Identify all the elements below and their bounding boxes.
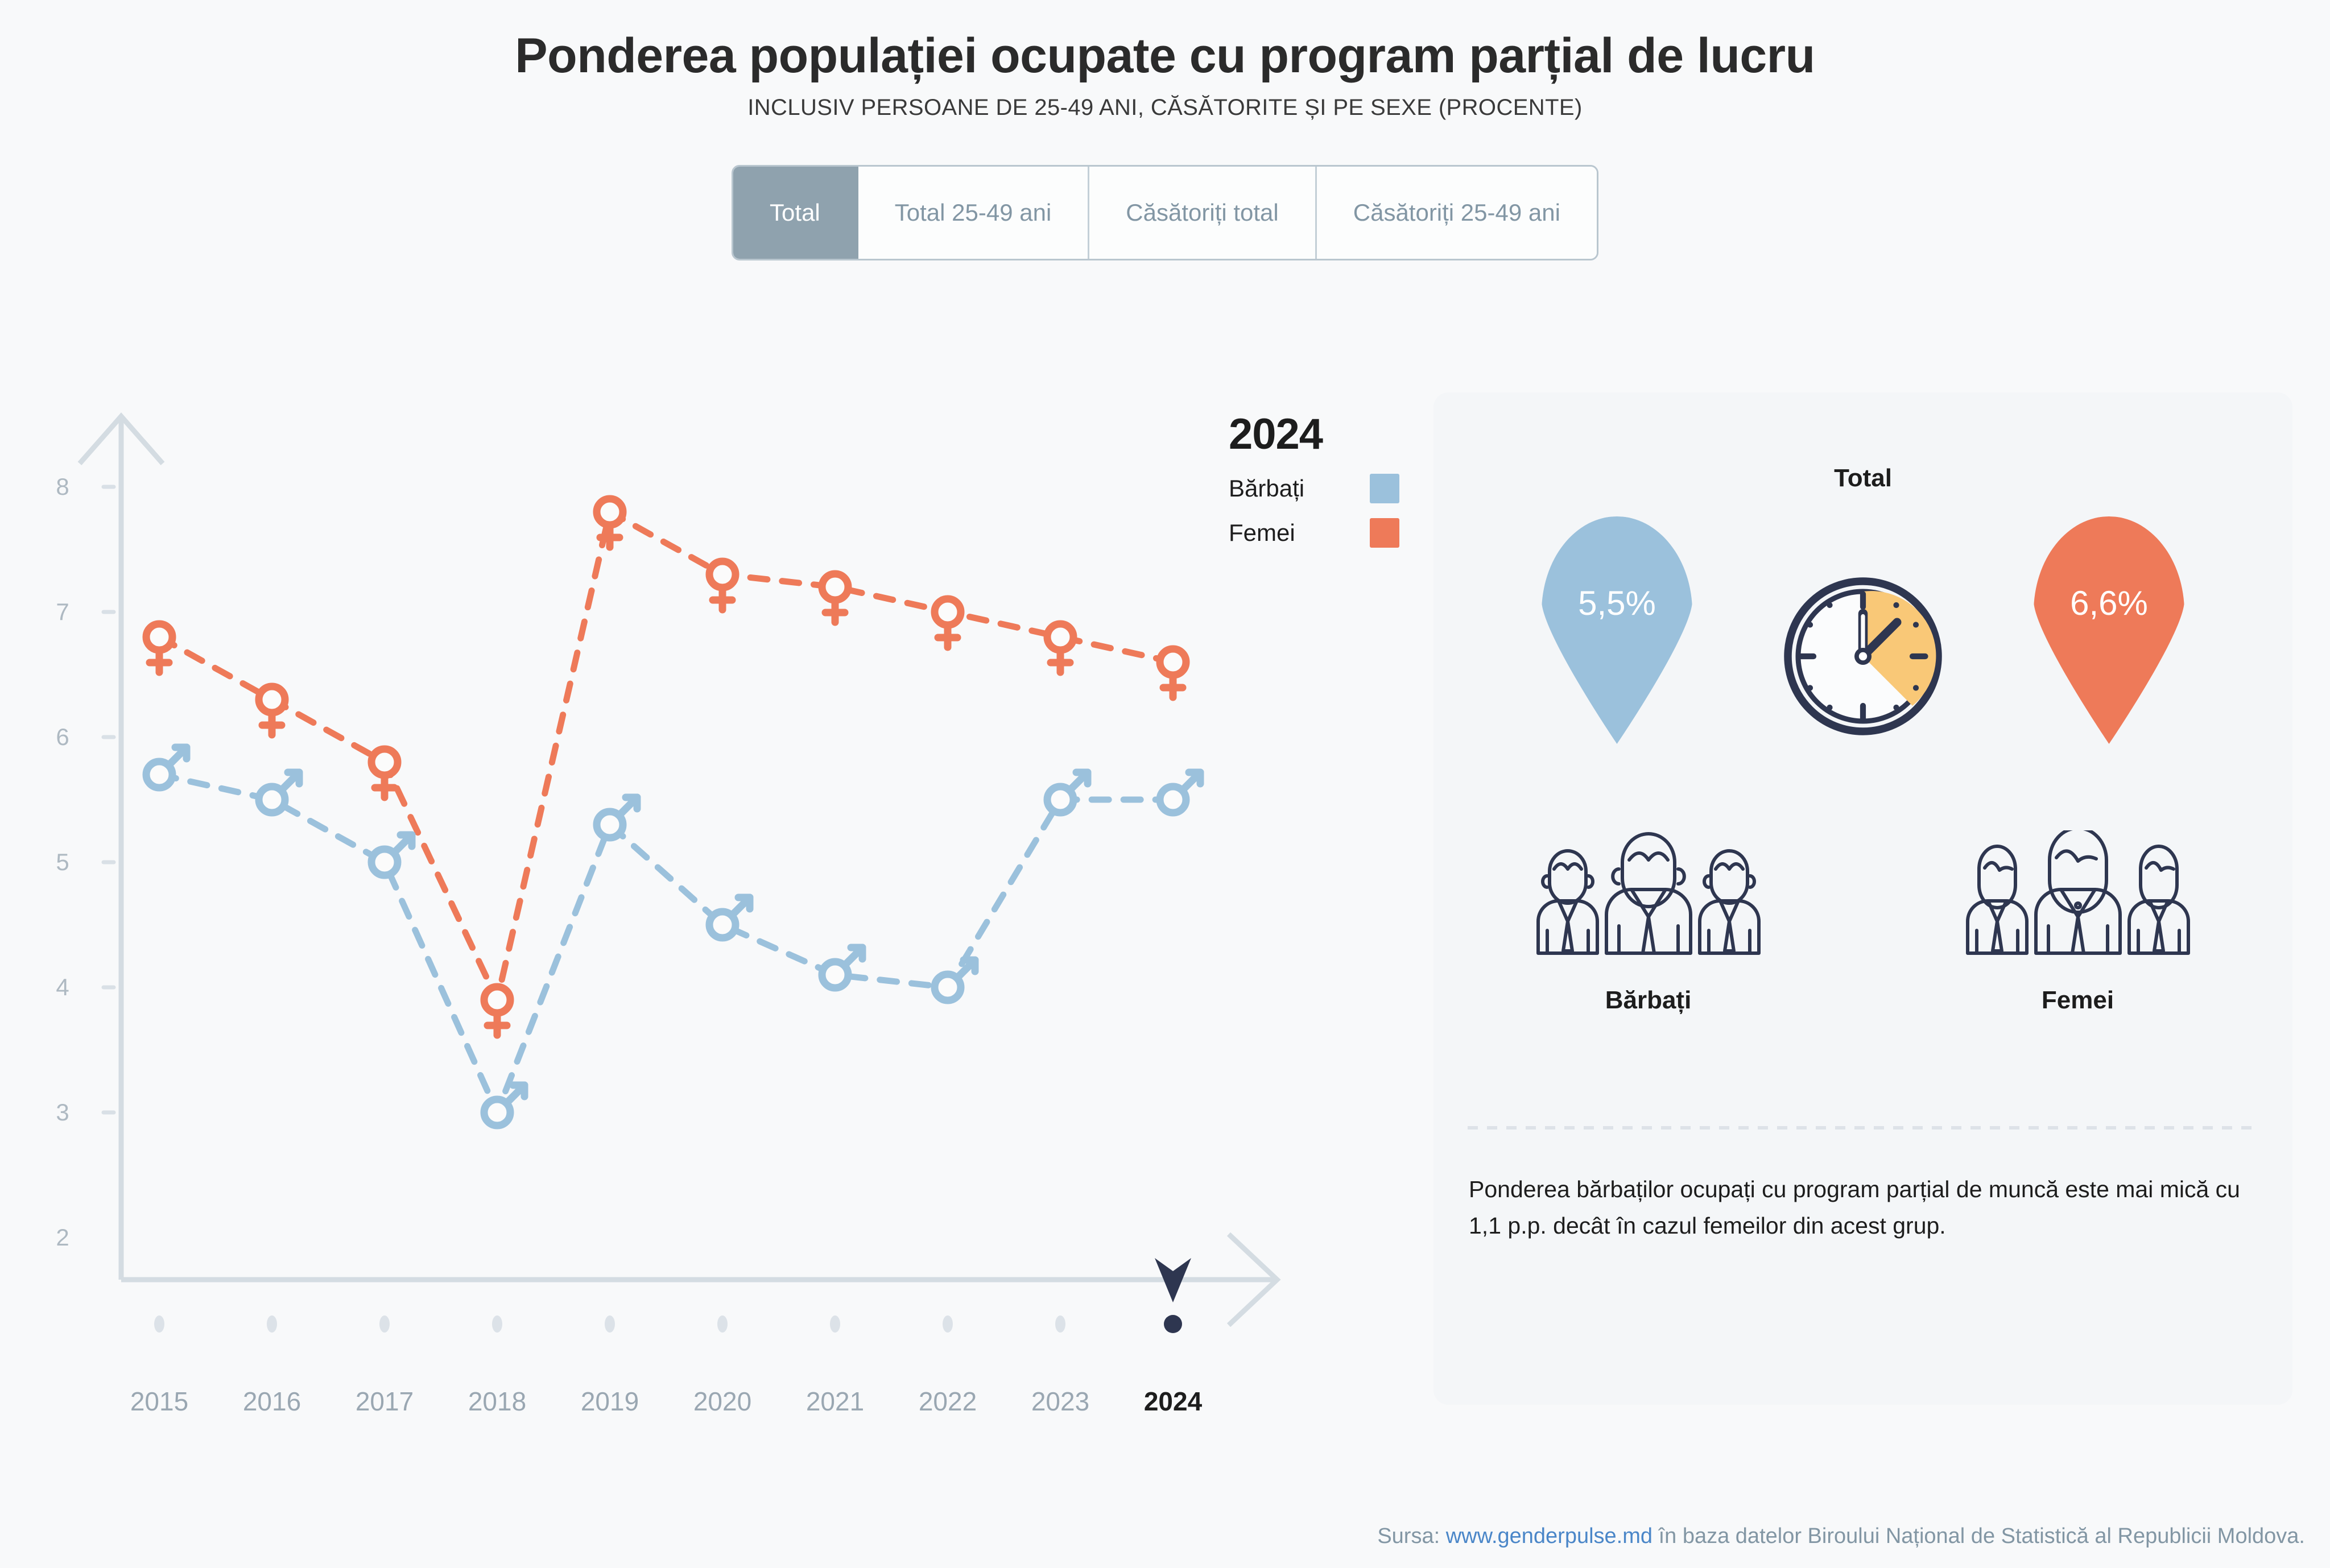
people-women-icon <box>1959 830 2197 961</box>
clock-icon <box>1778 571 1948 744</box>
men-value: 5,5% <box>1578 584 1656 623</box>
svg-text:7: 7 <box>56 598 69 625</box>
svg-text:8: 8 <box>56 473 69 500</box>
legend-swatch-barbati <box>1370 474 1399 503</box>
x-tick-dots <box>154 1315 1065 1333</box>
x-tick-2020[interactable]: 2020 <box>693 1387 751 1416</box>
clock-glyph <box>1778 571 1948 742</box>
legend-label-barbati: Bărbați <box>1229 475 1304 502</box>
map-pin-icon: 5,5% <box>1542 516 1692 744</box>
men-group: Bărbați <box>1501 830 1796 1015</box>
page-subtitle: INCLUSIV PERSOANE DE 25-49 ANI, CĂSĂTORI… <box>0 95 2330 121</box>
legend-label-femei: Femei <box>1229 519 1295 547</box>
women-value-pin: 6,6% <box>2034 516 2184 744</box>
source-prefix: Sursa: <box>1377 1524 1445 1548</box>
legend-year: 2024 <box>1229 409 1416 459</box>
x-tick-2023[interactable]: 2023 <box>1031 1387 1089 1416</box>
series-barbati-line <box>159 775 1173 1112</box>
x-axis <box>121 1234 1277 1325</box>
men-label: Bărbați <box>1605 986 1692 1015</box>
legend-item-barbati[interactable]: Bărbați <box>1229 474 1399 503</box>
summary-card: Total 5,5% <box>1433 392 2292 1405</box>
tab-total-25-49[interactable]: Total 25-49 ani <box>858 167 1090 259</box>
chart-canvas: 8 7 6 5 4 3 2 <box>34 392 1411 1456</box>
summary-note: Ponderea bărbaților ocupați cu program p… <box>1469 1172 2257 1244</box>
chart-legend: 2024 Bărbați Femei <box>1229 409 1416 548</box>
x-tick-2018[interactable]: 2018 <box>468 1387 526 1416</box>
tab-bar: Total Total 25-49 ani Căsătoriți total C… <box>0 165 2330 260</box>
people-men-icon <box>1529 830 1768 961</box>
x-tick-2019[interactable]: 2019 <box>581 1387 639 1416</box>
women-label: Femei <box>2042 986 2114 1015</box>
card-divider <box>1468 1126 2258 1130</box>
summary-card-title: Total <box>1433 464 2292 493</box>
svg-text:4: 4 <box>56 974 69 1000</box>
tab-casatoriti-total[interactable]: Căsătoriți total <box>1089 167 1316 259</box>
header: Ponderea populației ocupate cu program p… <box>0 0 2330 121</box>
x-tick-2017[interactable]: 2017 <box>356 1387 414 1416</box>
people-groups: Bărbați <box>1433 830 2292 1015</box>
svg-text:2: 2 <box>56 1224 69 1251</box>
series-barbati-markers <box>146 747 1200 1126</box>
series-femei-line <box>159 512 1173 1000</box>
legend-swatch-femei <box>1370 518 1399 548</box>
tab-casatoriti-25-49[interactable]: Căsătoriți 25-49 ani <box>1317 167 1597 259</box>
x-tick-2015[interactable]: 2015 <box>130 1387 188 1416</box>
svg-text:5: 5 <box>56 849 69 875</box>
x-tick-2024[interactable]: 2024 <box>1144 1387 1203 1416</box>
line-chart: 8 7 6 5 4 3 2 <box>34 392 1411 1456</box>
y-axis <box>80 415 163 1280</box>
map-pin-icon: 6,6% <box>2034 516 2184 744</box>
source-footer: Sursa: www.genderpulse.md în baza datelo… <box>0 1524 2330 1549</box>
women-value: 6,6% <box>2070 584 2148 623</box>
svg-text:3: 3 <box>56 1099 69 1126</box>
y-tick-labels: 8 7 6 5 4 3 2 <box>56 473 69 1251</box>
selected-year-pointer <box>1155 1258 1191 1333</box>
source-link[interactable]: www.genderpulse.md <box>1446 1524 1653 1548</box>
men-value-pin: 5,5% <box>1542 516 1692 744</box>
x-tick-2021[interactable]: 2021 <box>806 1387 864 1416</box>
women-group: Femei <box>1930 830 2226 1015</box>
svg-text:6: 6 <box>56 723 69 750</box>
summary-pins: 5,5% <box>1433 516 2292 755</box>
tab-total[interactable]: Total <box>733 167 858 259</box>
infographic-page: Ponderea populației ocupate cu program p… <box>0 0 2330 1568</box>
x-tick-2016[interactable]: 2016 <box>243 1387 301 1416</box>
legend-item-femei[interactable]: Femei <box>1229 518 1399 548</box>
x-tick-2022[interactable]: 2022 <box>919 1387 977 1416</box>
y-axis-ticks <box>104 487 114 1112</box>
series-femei-markers <box>146 499 1186 1035</box>
source-suffix: în baza datelor Biroului Național de Sta… <box>1653 1524 2305 1548</box>
main-content: 8 7 6 5 4 3 2 <box>0 392 2330 1456</box>
page-title: Ponderea populației ocupate cu program p… <box>0 30 2330 82</box>
